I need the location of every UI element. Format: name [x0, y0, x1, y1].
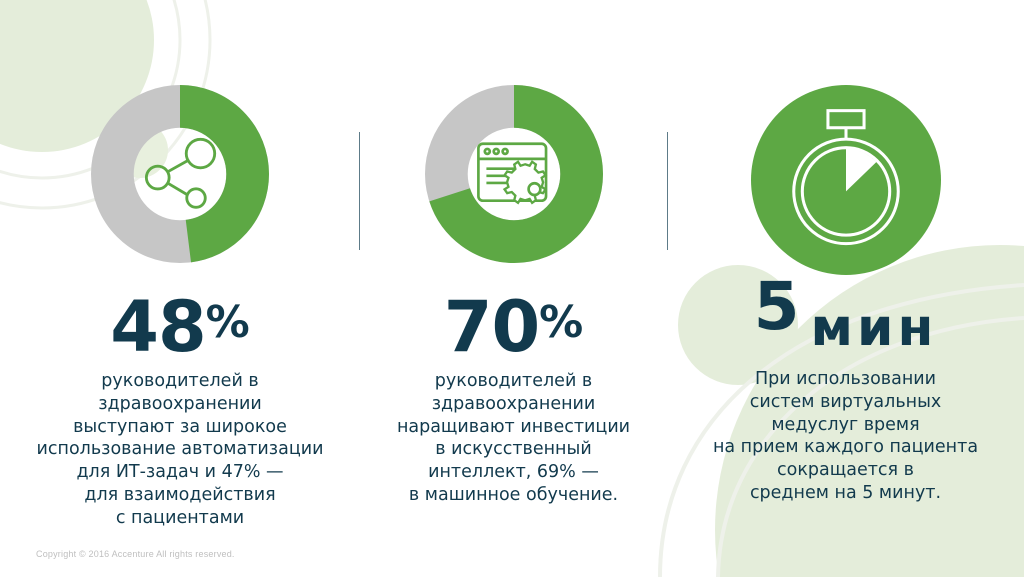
stat-suffix: мин [811, 302, 938, 354]
stat-suffix: % [539, 297, 583, 348]
copyright-footer: Copyright © 2016 Accenture All rights re… [36, 549, 235, 559]
stat-number: 5 [754, 274, 799, 340]
stat-value-70: 70% [360, 292, 667, 362]
stat-number: 70 [444, 286, 539, 368]
stat-description-ai-investment: руководителей в здравоохранении наращива… [360, 370, 667, 507]
stat-description-automation: руководителей в здравоохранении выступаю… [0, 370, 360, 529]
donut-chart-48 [0, 85, 360, 263]
stat-suffix: % [206, 297, 250, 348]
stopwatch-circle [667, 85, 1024, 275]
stat-column-time-saved: 5мин При использовании систем виртуальны… [667, 0, 1024, 577]
infographic-slide: 48% руководителей в здравоохранении выст… [0, 0, 1024, 577]
donut-chart-70 [360, 85, 667, 263]
stat-value-5-min: 5мин [667, 288, 1024, 354]
stat-number: 48 [110, 286, 205, 368]
stat-column-ai-investment: 70% руководителей в здравоохранении нара… [360, 0, 667, 577]
stat-column-automation: 48% руководителей в здравоохранении выст… [0, 0, 360, 577]
stat-description-time-saved: При использовании систем виртуальных мед… [667, 368, 1024, 505]
stat-value-48: 48% [0, 292, 360, 362]
share-network-icon [146, 139, 214, 207]
